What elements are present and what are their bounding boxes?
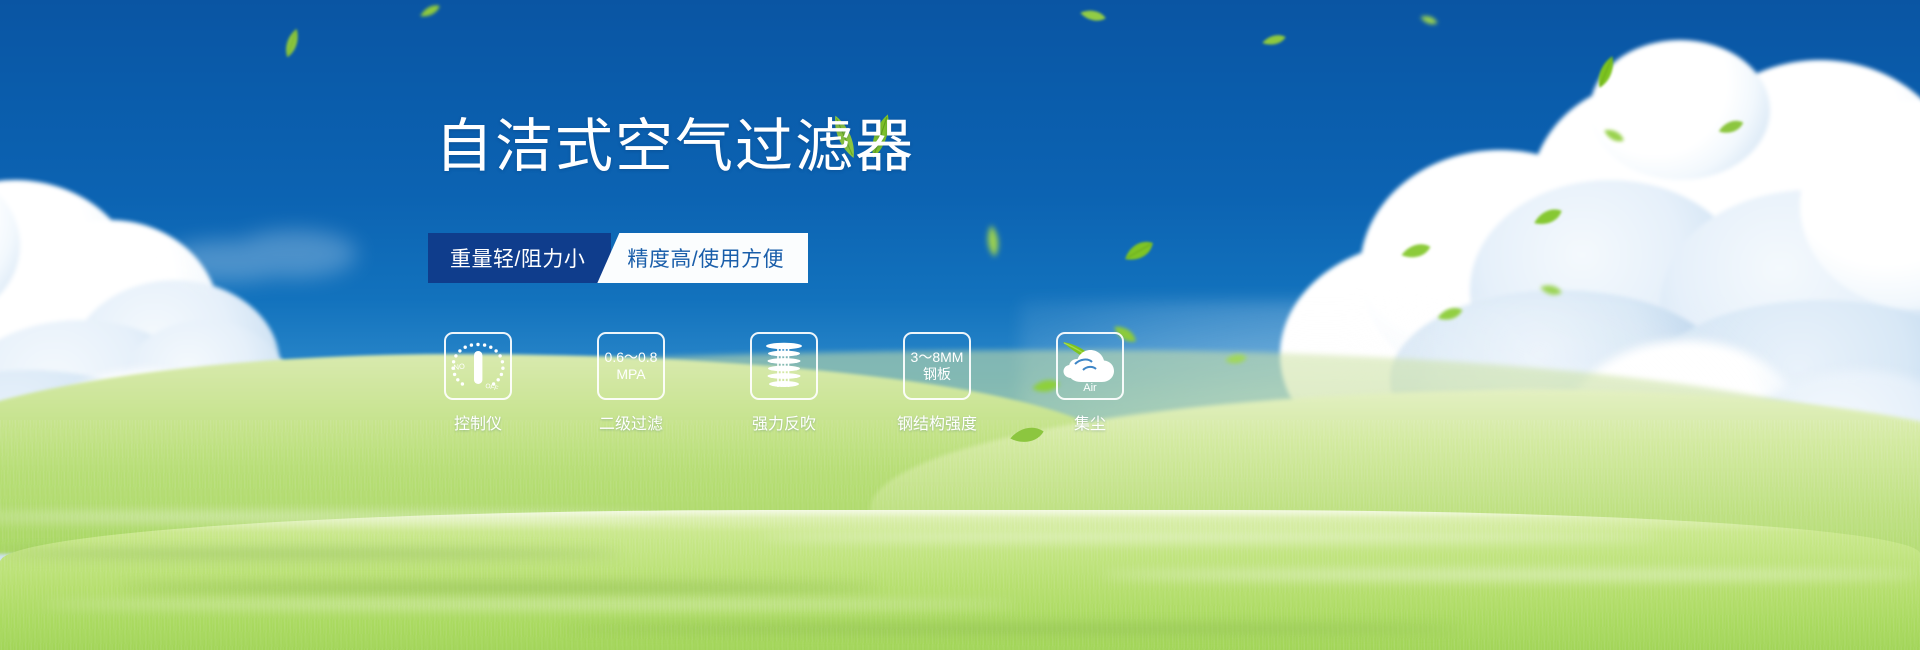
- feature-item-back-blow[interactable]: 强力反吹: [743, 332, 825, 434]
- steel-material: 钢板: [911, 366, 964, 383]
- steel-thickness: 3～8MM: [911, 349, 964, 366]
- page-title: 自洁式空气过滤器: [435, 118, 915, 176]
- svg-text:NO: NO: [453, 361, 466, 372]
- feature-caption: 控制仪: [454, 410, 502, 434]
- product-banner: 自洁式空气过滤器 重量轻/阻力小 精度高/使用方便: [0, 0, 1920, 650]
- banner-content: 自洁式空气过滤器 重量轻/阻力小 精度高/使用方便: [0, 0, 1920, 650]
- feature-item-dust-collection[interactable]: Air 集尘: [1049, 332, 1131, 434]
- feature-caption: 二级过滤: [599, 410, 663, 434]
- tab-weight-resistance[interactable]: 重量轻/阻力小: [428, 233, 611, 283]
- feature-caption: 集尘: [1074, 410, 1106, 434]
- air-cloud-icon: Air: [1056, 332, 1124, 400]
- air-label: Air: [1083, 382, 1097, 394]
- feature-tabs: 重量轻/阻力小 精度高/使用方便: [428, 233, 808, 283]
- pressure-value: 0.6～0.8: [605, 349, 658, 366]
- feature-item-two-stage-filter[interactable]: 0.6～0.8 MPA 二级过滤: [590, 332, 672, 434]
- feature-item-steel-strength[interactable]: 3～8MM 钢板 钢结构强度: [896, 332, 978, 434]
- feature-caption: 强力反吹: [752, 410, 816, 434]
- feature-item-controller[interactable]: NO OFF 控制仪: [437, 332, 519, 434]
- filter-coil-icon: [750, 332, 818, 400]
- steel-plate-text-icon: 3～8MM 钢板: [903, 332, 971, 400]
- pressure-text-icon: 0.6～0.8 MPA: [597, 332, 665, 400]
- feature-list: NO OFF 控制仪 0.6～0.8 MPA 二级过滤: [437, 332, 1131, 434]
- svg-text:OFF: OFF: [485, 383, 499, 393]
- tab-precision-convenience[interactable]: 精度高/使用方便: [597, 233, 808, 283]
- gauge-dial-icon: NO OFF: [444, 332, 512, 400]
- feature-caption: 钢结构强度: [897, 410, 977, 434]
- pressure-unit: MPA: [605, 366, 658, 383]
